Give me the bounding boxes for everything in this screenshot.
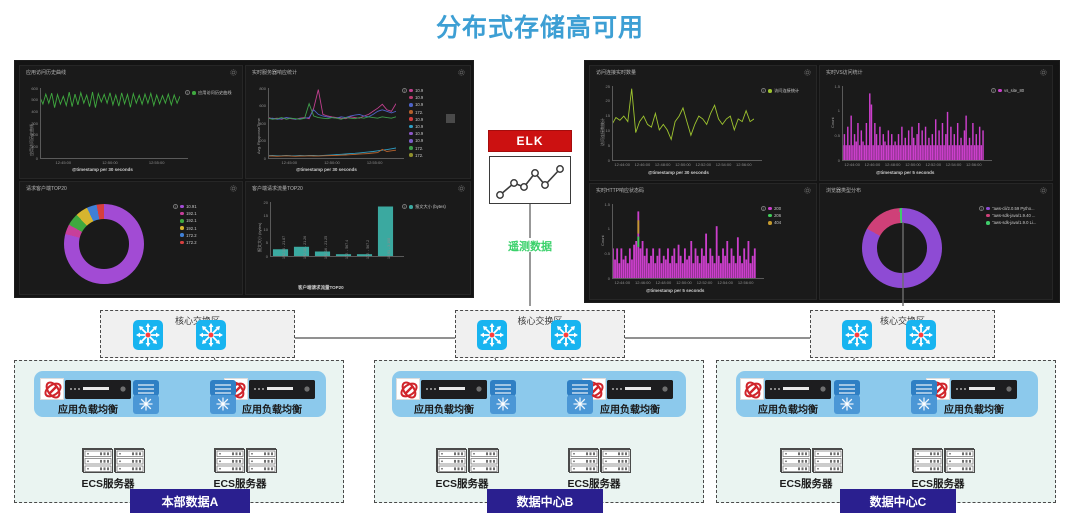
dashboard-left: 应用访问历史曲线 应用访问历史曲线 @timestamp per 30 seco… bbox=[14, 60, 474, 298]
x-tick: 12:52:00 bbox=[923, 162, 943, 167]
legend-item[interactable]: 10.91 bbox=[180, 204, 197, 209]
y-tick: 200 bbox=[255, 138, 266, 143]
load-balancer-left-dc0[interactable]: 应用负载均衡 bbox=[40, 378, 136, 418]
legend-item[interactable]: 10.9 bbox=[409, 138, 423, 143]
legend-item[interactable]: 10.9 bbox=[409, 95, 423, 100]
chart-legend[interactable]: vs_site_80 bbox=[998, 88, 1024, 95]
x-tick: 12:54:00 bbox=[944, 162, 964, 167]
panel-title: 实时服务器响应统计 bbox=[252, 69, 297, 76]
lb-label: 应用负载均衡 bbox=[224, 401, 320, 416]
y-tick: 1.5 bbox=[599, 202, 610, 207]
lb-device-row bbox=[740, 378, 831, 400]
load-balancer-left-dc2[interactable]: 应用负载均衡 bbox=[740, 378, 836, 418]
chart-legend[interactable]: 10.91192.1192.1192.1172.2172.2 bbox=[180, 204, 197, 247]
x-axis-label: @timestamp per 30 seconds bbox=[296, 167, 357, 172]
x-tick: 172. - 567.2 bbox=[366, 240, 370, 259]
chart-plot-area bbox=[270, 202, 396, 256]
x-axis-label: 客户端请求流量TOP20 bbox=[298, 285, 344, 291]
core-switch-icon-5[interactable] bbox=[842, 320, 872, 350]
y-tick: 0.5 bbox=[829, 133, 840, 138]
y-axis bbox=[842, 86, 843, 160]
x-axis-label: @timestamp per 30 seconds bbox=[72, 167, 133, 172]
ecs-server-left-0-1[interactable] bbox=[114, 448, 144, 472]
chart-plot-area bbox=[612, 204, 756, 278]
datacenter-badge-b: 数据中心B bbox=[487, 489, 603, 513]
y-tick: 400 bbox=[27, 109, 38, 114]
elk-box[interactable]: ELK bbox=[488, 130, 572, 152]
chart-legend[interactable]: 200206404 bbox=[768, 206, 781, 228]
legend-swatch bbox=[409, 117, 413, 121]
legend-label: 172.2 bbox=[186, 233, 196, 238]
x-tick: 12:46:00 bbox=[862, 162, 882, 167]
panel-server-response[interactable]: 实时服务器响应统计 Avg. ResponseTime @timestamp p… bbox=[245, 65, 471, 179]
x-axis bbox=[268, 158, 404, 159]
ecs-label-right-dc2: ECS服务器 bbox=[902, 476, 974, 491]
line-chart-icon bbox=[489, 156, 571, 204]
info-icon[interactable]: i bbox=[402, 88, 407, 93]
legend-swatch bbox=[986, 221, 990, 225]
legend-label: 10.9 bbox=[415, 88, 423, 93]
x-tick: 12:44:00 bbox=[612, 280, 632, 285]
chart-legend[interactable]: 报文大小 (bytes) bbox=[409, 204, 446, 212]
load-balancer-left-dc1[interactable]: 应用负载均衡 bbox=[396, 378, 492, 418]
legend-item[interactable]: 10.9 bbox=[409, 131, 423, 136]
core-switch-icon-4[interactable] bbox=[551, 320, 581, 350]
core-switch-icon-1[interactable] bbox=[133, 320, 163, 350]
lb-device-row bbox=[582, 378, 673, 400]
y-axis bbox=[40, 88, 41, 158]
legend-item[interactable]: 10.9 bbox=[409, 102, 423, 107]
y-tick: 200 bbox=[27, 132, 38, 137]
legend-label: 10.9 bbox=[415, 117, 423, 122]
legend-swatch bbox=[986, 214, 990, 218]
panel-client-traffic-top20[interactable]: 客户端请求流量TOP20 报文大小 (bytes) 客户端请求流量TOP20 报… bbox=[245, 181, 471, 295]
lb-label: 应用负载均衡 bbox=[926, 401, 1022, 416]
legend-swatch bbox=[180, 233, 184, 237]
chart-legend[interactable]: 应用访问历史曲线 bbox=[192, 90, 232, 98]
x-tick: 192.16 - 21.25 bbox=[324, 236, 328, 259]
ecs-label-right-dc1: ECS服务器 bbox=[558, 476, 630, 491]
y-axis bbox=[612, 204, 613, 278]
y-tick: 600 bbox=[255, 103, 266, 108]
info-icon[interactable]: i bbox=[402, 204, 407, 209]
chart-legend[interactable]: 10.910.910.9172.10.910.910.910.9172.172. bbox=[409, 88, 423, 160]
y-tick: 600 bbox=[27, 86, 38, 91]
x-tick: 12:55:00 bbox=[147, 160, 167, 165]
y-tick: 15 bbox=[599, 113, 610, 118]
core-zone-title: 核心交换区 bbox=[811, 314, 994, 327]
legend-label: 192.1 bbox=[186, 211, 196, 216]
load-balancer-right-dc0[interactable]: 应用负载均衡 bbox=[224, 378, 320, 418]
chart-plot-area bbox=[40, 88, 180, 158]
y-tick: 0.5 bbox=[599, 251, 610, 256]
lb-device-row bbox=[224, 378, 315, 400]
x-tick: 12:52:00 bbox=[695, 280, 715, 285]
y-tick: 20 bbox=[257, 200, 268, 205]
legend-swatch bbox=[409, 103, 413, 107]
router-right-dc2[interactable] bbox=[911, 380, 937, 414]
panel-title: 请求客户端TOP20 bbox=[26, 185, 67, 192]
lb-label: 应用负载均衡 bbox=[582, 401, 678, 416]
gear-icon[interactable] bbox=[1040, 69, 1047, 76]
y-tick: 0 bbox=[257, 254, 268, 259]
gear-icon[interactable] bbox=[804, 187, 811, 194]
legend-label: 200 bbox=[774, 206, 781, 211]
x-tick: 10.91 - 3.108 bbox=[387, 238, 391, 259]
legend-label: 404 bbox=[774, 220, 781, 225]
legend-swatch bbox=[180, 226, 184, 230]
legend-item[interactable]: 报文大小 (bytes) bbox=[409, 204, 446, 210]
y-tick: 1.5 bbox=[829, 84, 840, 89]
x-axis bbox=[40, 158, 188, 159]
appliance-icon bbox=[607, 380, 673, 399]
lb-device-row bbox=[40, 378, 131, 400]
legend-label: 172. bbox=[415, 110, 423, 115]
x-tick: 12:48:00 bbox=[883, 162, 903, 167]
y-tick: 5 bbox=[599, 143, 610, 148]
legend-label: 192.1 bbox=[186, 226, 196, 231]
ecs-server-right-2-0[interactable] bbox=[912, 448, 942, 472]
legend-swatch bbox=[409, 89, 413, 93]
legend-swatch bbox=[180, 212, 184, 216]
legend-label: "aws-sdk-java/1.9.0 Li... bbox=[992, 220, 1036, 225]
x-tick: 12:50:00 bbox=[673, 162, 693, 167]
legend-item[interactable]: "aws-cli/2.0.59 Pytho... bbox=[986, 206, 1036, 211]
legend-label: 报文大小 (bytes) bbox=[415, 204, 446, 210]
legend-item[interactable]: "aws-sdk-java/1.9.0 Li... bbox=[986, 220, 1036, 225]
x-tick: 12:56:00 bbox=[734, 162, 754, 167]
core-zone-right: 核心交换区 bbox=[810, 310, 995, 358]
y-tick: 800 bbox=[255, 86, 266, 91]
donut-chart bbox=[64, 204, 144, 284]
x-tick: 12:46:00 bbox=[633, 280, 653, 285]
legend-label: 10.9 bbox=[415, 95, 423, 100]
legend-label: 10.9 bbox=[415, 131, 423, 136]
ecs-server-right-0-1[interactable] bbox=[246, 448, 276, 472]
x-axis bbox=[612, 278, 764, 279]
x-tick: 12:50:00 bbox=[674, 280, 694, 285]
load-balancer-right-dc1[interactable]: 应用负载均衡 bbox=[582, 378, 678, 418]
legend-swatch bbox=[409, 132, 413, 136]
legend-label: 访问连接统计 bbox=[774, 88, 799, 94]
x-tick: 12:52:00 bbox=[693, 162, 713, 167]
y-axis-label: 应用访问历史曲线 bbox=[29, 124, 35, 156]
info-icon[interactable]: i bbox=[173, 204, 178, 209]
ecs-label-left-dc2: ECS服务器 bbox=[770, 476, 842, 491]
lb-label: 应用负载均衡 bbox=[396, 401, 492, 416]
legend-swatch bbox=[986, 207, 990, 211]
y-tick: 0 bbox=[255, 156, 266, 161]
gear-icon[interactable] bbox=[1040, 187, 1047, 194]
legend-swatch bbox=[409, 146, 413, 150]
x-axis bbox=[612, 160, 762, 161]
x-axis-label: @timestamp per 5 seconds bbox=[876, 170, 934, 175]
panel-browser-type-donut[interactable]: 浏览器类型分布 "aws-cli/2.0.59 Pytho..."aws-sdk… bbox=[819, 183, 1053, 300]
panel-title: 应用访问历史曲线 bbox=[26, 69, 66, 76]
legend-swatch bbox=[768, 89, 772, 93]
page-root: 分布式存储高可用 应用访问历史曲线 应用访问历史曲线 @timestamp pe… bbox=[0, 0, 1080, 516]
y-axis-label: Count bbox=[600, 235, 605, 246]
info-icon[interactable]: i bbox=[185, 90, 190, 95]
legend-swatch bbox=[409, 110, 413, 114]
y-tick: 5 bbox=[257, 240, 268, 245]
ecs-server-right-1-1[interactable] bbox=[600, 448, 630, 472]
legend-item[interactable]: 192.1 bbox=[180, 218, 197, 223]
legend-label: 10.9 bbox=[415, 124, 423, 129]
x-tick: 12:48:00 bbox=[653, 162, 673, 167]
info-icon[interactable]: i bbox=[979, 206, 984, 211]
lb-device-row bbox=[926, 378, 1017, 400]
legend-item[interactable]: 172. bbox=[409, 153, 423, 158]
legend-item[interactable]: 172.2 bbox=[180, 240, 197, 245]
legend-item[interactable]: 应用访问历史曲线 bbox=[192, 90, 232, 96]
legend-swatch bbox=[768, 221, 772, 225]
panel-connection-count[interactable]: 访问连接实时数量 访问连接数统计 @timestamp per 30 secon… bbox=[589, 65, 817, 181]
gear-icon[interactable] bbox=[458, 69, 465, 76]
legend-label: 172.2 bbox=[186, 240, 196, 245]
x-tick: 12:45:00 bbox=[279, 160, 299, 165]
legend-item[interactable]: vs_site_80 bbox=[998, 88, 1024, 93]
legend-item[interactable]: 192.1 bbox=[180, 226, 197, 231]
x-tick: 12:48:00 bbox=[653, 280, 673, 285]
ecs-server-left-1-1[interactable] bbox=[468, 448, 498, 472]
y-tick: 25 bbox=[599, 84, 610, 89]
f5-logo-icon bbox=[740, 378, 764, 400]
gear-icon[interactable] bbox=[458, 185, 465, 192]
x-axis bbox=[842, 160, 992, 161]
legend-swatch bbox=[409, 153, 413, 157]
y-tick: 300 bbox=[27, 121, 38, 126]
panel-app-access-history[interactable]: 应用访问历史曲线 应用访问历史曲线 @timestamp per 30 seco… bbox=[19, 65, 243, 179]
panel-title: 实时HTTP响应状态码 bbox=[596, 187, 644, 194]
y-tick: 0 bbox=[829, 158, 840, 163]
router-left-dc1[interactable] bbox=[490, 380, 516, 414]
x-axis bbox=[270, 256, 404, 257]
x-tick: 192.16 - 21.26 bbox=[303, 236, 307, 259]
legend-swatch bbox=[409, 96, 413, 100]
x-tick: 12:46:00 bbox=[632, 162, 652, 167]
legend-label: 10.9 bbox=[415, 138, 423, 143]
panel-client-top20-donut[interactable]: 请求客户端TOP20 10.91192.1192.1192.1172.2172.… bbox=[19, 181, 243, 295]
ecs-server-left-2-0[interactable] bbox=[780, 448, 810, 472]
appliance-icon bbox=[65, 380, 131, 399]
chart-legend[interactable]: 访问连接统计 bbox=[768, 88, 799, 96]
dashboard-right: 访问连接实时数量 访问连接数统计 @timestamp per 30 secon… bbox=[584, 60, 1060, 303]
chart-plot-area bbox=[842, 86, 984, 160]
chart-plot-area bbox=[268, 88, 396, 158]
y-axis bbox=[268, 88, 269, 158]
legend-swatch bbox=[409, 139, 413, 143]
router-right-dc1[interactable] bbox=[567, 380, 593, 414]
appliance-icon bbox=[421, 380, 487, 399]
y-tick: 10 bbox=[599, 128, 610, 133]
core-switch-icon-6[interactable] bbox=[906, 320, 936, 350]
legend-label: "aws-sdk-java/1.9.40 ... bbox=[992, 213, 1035, 218]
router-right-dc0[interactable] bbox=[210, 380, 236, 414]
legend-item[interactable]: 10.9 bbox=[409, 88, 423, 93]
x-tick: 192.16 - 21.87 bbox=[282, 236, 286, 259]
ecs-server-left-1-0[interactable] bbox=[436, 448, 466, 472]
info-icon[interactable]: i bbox=[761, 88, 766, 93]
legend-item[interactable]: 172. bbox=[409, 146, 423, 151]
legend-label: 206 bbox=[774, 213, 781, 218]
gear-icon[interactable] bbox=[804, 69, 811, 76]
x-tick: 12:54:00 bbox=[714, 162, 734, 167]
panel-title: 访问连接实时数量 bbox=[596, 69, 636, 76]
lb-device-row bbox=[396, 378, 487, 400]
gear-icon[interactable] bbox=[230, 69, 237, 76]
legend-swatch bbox=[180, 219, 184, 223]
legend-label: 10.9 bbox=[415, 102, 423, 107]
legend-item[interactable]: 192.1 bbox=[180, 211, 197, 216]
ecs-server-right-0-0[interactable] bbox=[214, 448, 244, 472]
core-switch-icon-3[interactable] bbox=[477, 320, 507, 350]
x-tick: 12:45:00 bbox=[53, 160, 73, 165]
datacenter-badge-c: 数据中心C bbox=[840, 489, 956, 513]
ecs-server-left-0-0[interactable] bbox=[82, 448, 112, 472]
f5-logo-icon bbox=[40, 378, 64, 400]
ecs-label-right-dc0: ECS服务器 bbox=[204, 476, 276, 491]
info-icon[interactable]: i bbox=[991, 88, 996, 93]
legend-item[interactable]: 10.9 bbox=[409, 117, 423, 122]
chart-plot-area bbox=[612, 86, 754, 160]
legend-label: 172. bbox=[415, 146, 423, 151]
appliance-icon bbox=[249, 380, 315, 399]
legend-item[interactable]: "aws-sdk-java/1.9.40 ... bbox=[986, 213, 1036, 218]
legend-swatch bbox=[998, 89, 1002, 93]
load-balancer-right-dc2[interactable]: 应用负载均衡 bbox=[926, 378, 1022, 418]
panel-title: 浏览器类型分布 bbox=[826, 187, 861, 194]
x-axis-label: @timestamp per 30 seconds bbox=[648, 170, 709, 175]
appliance-icon bbox=[951, 380, 1017, 399]
legend-item[interactable]: 206 bbox=[768, 213, 781, 218]
y-axis-label: Count bbox=[830, 117, 835, 128]
legend-item[interactable]: 10.9 bbox=[409, 124, 423, 129]
datacenter-badge-a: 本部数据A bbox=[130, 489, 250, 513]
x-tick: 12:44:00 bbox=[842, 162, 862, 167]
x-tick: 12:56:00 bbox=[736, 280, 756, 285]
y-axis bbox=[612, 86, 613, 160]
legend-item[interactable]: 404 bbox=[768, 220, 781, 225]
x-tick: 12:50:00 bbox=[100, 160, 120, 165]
legend-label: 10.91 bbox=[186, 204, 196, 209]
chart-legend[interactable]: "aws-cli/2.0.59 Pytho..."aws-sdk-java/1.… bbox=[986, 206, 1036, 228]
x-tick: 172. - 567.4 bbox=[345, 240, 349, 259]
panel-vs-access-stats[interactable]: 实时VS访问统计 Count @timestamp per 5 seconds … bbox=[819, 65, 1053, 181]
panel-title: 客户端请求流量TOP20 bbox=[252, 185, 303, 192]
y-axis bbox=[270, 202, 271, 256]
router-left-dc0[interactable] bbox=[133, 380, 159, 414]
page-title: 分布式存储高可用 bbox=[0, 8, 1080, 44]
legend-label: 172. bbox=[415, 153, 423, 158]
telemetry-label: 遥测数据 bbox=[488, 238, 572, 254]
router-left-dc2[interactable] bbox=[834, 380, 860, 414]
legend-swatch bbox=[409, 205, 413, 209]
y-tick: 400 bbox=[255, 121, 266, 126]
donut-chart bbox=[862, 208, 942, 288]
ecs-server-right-1-0[interactable] bbox=[568, 448, 598, 472]
x-tick: 12:44:00 bbox=[612, 162, 632, 167]
x-axis-label: @timestamp per 5 seconds bbox=[646, 288, 704, 293]
legend-swatch bbox=[409, 125, 413, 129]
legend-swatch bbox=[768, 214, 772, 218]
lb-label: 应用负载均衡 bbox=[40, 401, 136, 416]
ecs-label-left-dc0: ECS服务器 bbox=[72, 476, 144, 491]
donut-hole bbox=[877, 223, 927, 273]
info-icon[interactable]: i bbox=[761, 206, 766, 211]
f5-logo-icon bbox=[396, 378, 420, 400]
y-tick: 20 bbox=[599, 98, 610, 103]
legend-label: 192.1 bbox=[186, 218, 196, 223]
gear-icon[interactable] bbox=[230, 185, 237, 192]
legend-item[interactable]: 172.2 bbox=[180, 233, 197, 238]
panel-http-status-codes[interactable]: 实时HTTP响应状态码 Count @timestamp per 5 secon… bbox=[589, 183, 817, 300]
legend-item[interactable]: 访问连接统计 bbox=[768, 88, 799, 94]
appliance-icon bbox=[765, 380, 831, 399]
ecs-server-right-2-1[interactable] bbox=[944, 448, 974, 472]
y-tick: 0 bbox=[599, 276, 610, 281]
legend-swatch bbox=[768, 207, 772, 211]
panel-title: 实时VS访问统计 bbox=[826, 69, 863, 76]
y-tick: 1 bbox=[829, 108, 840, 113]
ecs-server-left-2-1[interactable] bbox=[812, 448, 842, 472]
legend-collapse-handle[interactable] bbox=[446, 114, 455, 123]
y-tick: 1 bbox=[599, 226, 610, 231]
y-tick: 500 bbox=[27, 97, 38, 102]
y-tick: 15 bbox=[257, 213, 268, 218]
x-tick: 12:54:00 bbox=[715, 280, 735, 285]
y-tick: 10 bbox=[257, 227, 268, 232]
x-tick: 12:55:00 bbox=[365, 160, 385, 165]
donut-hole bbox=[79, 219, 129, 269]
legend-label: 应用访问历史曲线 bbox=[198, 90, 232, 96]
legend-label: "aws-cli/2.0.59 Pytho... bbox=[992, 206, 1034, 211]
x-tick: 12:50:00 bbox=[322, 160, 342, 165]
legend-item[interactable]: 172. bbox=[409, 110, 423, 115]
lb-label: 应用负载均衡 bbox=[740, 401, 836, 416]
y-tick: 0 bbox=[27, 156, 38, 161]
core-switch-icon-2[interactable] bbox=[196, 320, 226, 350]
legend-item[interactable]: 200 bbox=[768, 206, 781, 211]
x-tick: 12:50:00 bbox=[903, 162, 923, 167]
y-tick: 100 bbox=[27, 144, 38, 149]
x-tick: 12:56:00 bbox=[964, 162, 984, 167]
legend-label: vs_site_80 bbox=[1004, 88, 1024, 93]
legend-swatch bbox=[180, 205, 184, 209]
y-tick: 0 bbox=[599, 158, 610, 163]
legend-swatch bbox=[192, 91, 196, 95]
legend-swatch bbox=[180, 241, 184, 245]
ecs-label-left-dc1: ECS服务器 bbox=[426, 476, 498, 491]
